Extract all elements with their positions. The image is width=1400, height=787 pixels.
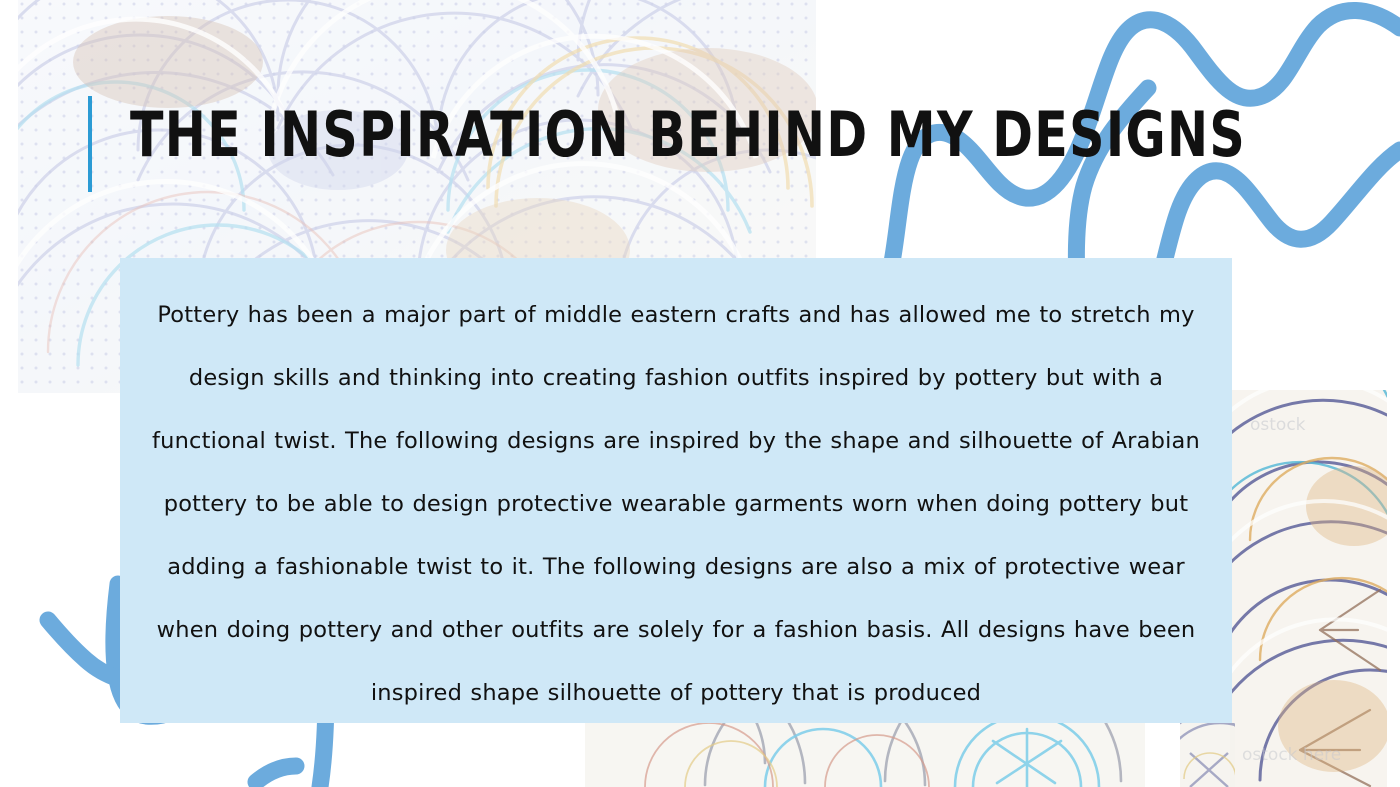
page-title: THE INSPIRATION BEHIND MY DESIGNS xyxy=(130,104,1246,166)
pottery-photo-right: ostock ostock here xyxy=(1230,390,1387,787)
presentation-slide: ostock ostock here THE INSPIRATION BEHIN… xyxy=(0,0,1400,787)
body-text-panel: Pottery has been a major part of middle … xyxy=(120,258,1232,723)
pottery-photo-fragment xyxy=(1180,723,1235,787)
pottery-photo-bottom xyxy=(585,723,1145,787)
body-paragraph: Pottery has been a major part of middle … xyxy=(143,284,1209,725)
title-accent-bar xyxy=(88,96,92,192)
